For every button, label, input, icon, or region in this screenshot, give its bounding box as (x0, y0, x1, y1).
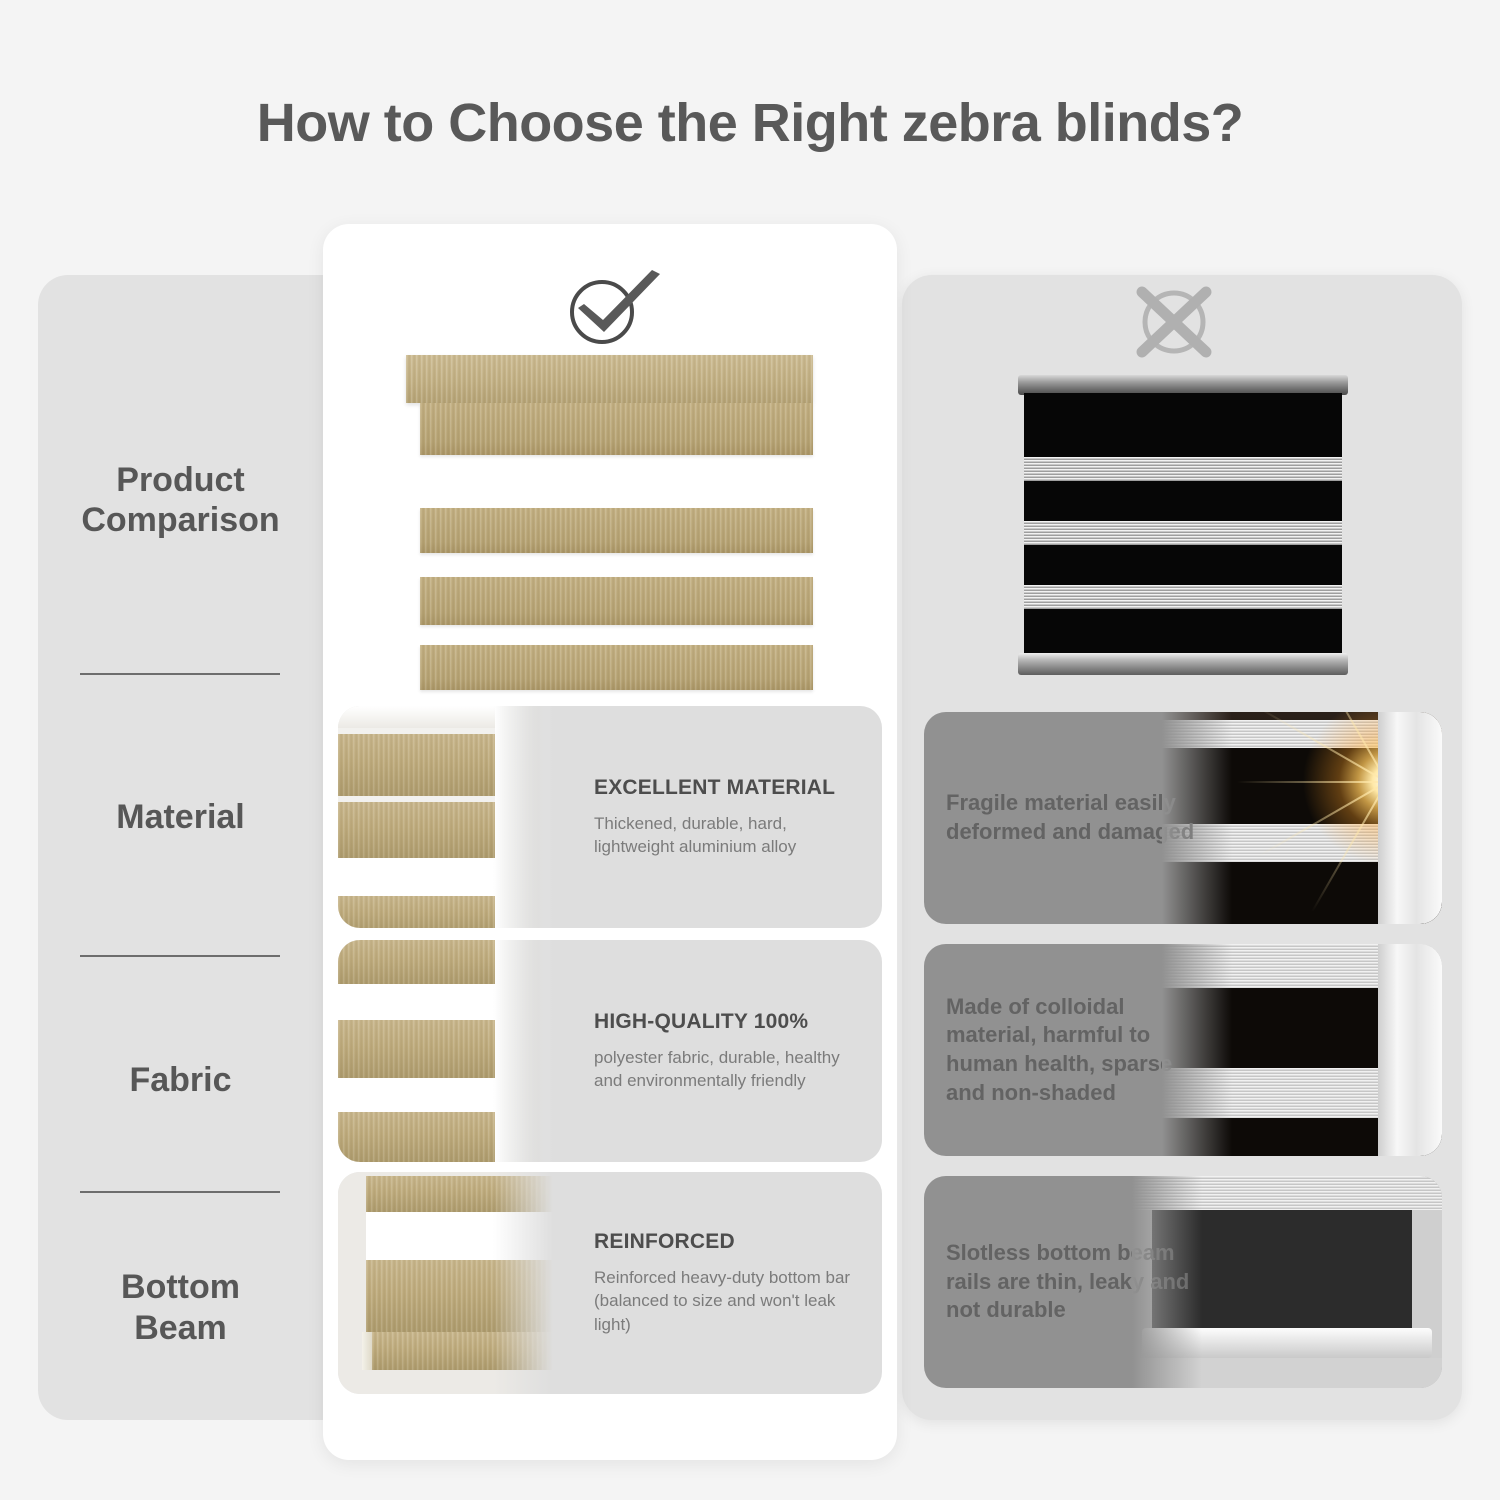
good-feature-card-fabric: HIGH-QUALITY 100% polyester fabric, dura… (338, 940, 882, 1162)
bad-hero-sheer-band (1024, 457, 1342, 481)
sidebar-label-product-comparison: Product Comparison (81, 460, 279, 540)
sidebar-label-fabric: Fabric (129, 1060, 231, 1100)
sidebar-label-column: Product Comparison Material Fabric Botto… (38, 275, 323, 1420)
photo-sheer-band (1132, 1176, 1442, 1210)
bad-feature-card-material: Fragile material easily deformed and dam… (924, 712, 1442, 924)
good-hero-headrail (406, 355, 813, 403)
photo-bottom-rail (1142, 1328, 1432, 1358)
photo-frame-outer (495, 940, 553, 1162)
photo-sheer (338, 984, 523, 1020)
photo-sheer (338, 1078, 523, 1112)
sidebar-divider-3 (80, 1191, 280, 1193)
photo-slat (338, 896, 523, 928)
page-title: How to Choose the Right zebra blinds? (0, 92, 1500, 154)
sidebar-row-product-comparison: Product Comparison (38, 335, 323, 665)
photo-sheer (366, 1212, 553, 1260)
good-hero-image (406, 355, 813, 695)
good-hero-slat (420, 645, 813, 690)
good-bottombeam-text: REINFORCED Reinforced heavy-duty bottom … (594, 1172, 864, 1394)
check-circle-icon (560, 268, 670, 348)
photo-slat (366, 1176, 553, 1212)
bad-hero-sheer-band (1024, 521, 1342, 545)
good-material-photo (338, 706, 553, 928)
good-hero-slat (420, 403, 813, 455)
good-feature-card-material: EXCELLENT MATERIAL Thickened, durable, h… (338, 706, 882, 928)
photo-slat (338, 734, 523, 796)
sidebar-row-fabric: Fabric (38, 965, 323, 1195)
photo-window-frame (1378, 712, 1442, 924)
bad-feature-card-bottom-beam: Slotless bottom beam rails are thin, lea… (924, 1176, 1442, 1388)
photo-frame-inner (497, 706, 513, 928)
bad-material-photo (1162, 712, 1442, 924)
good-bottombeam-heading: REINFORCED (594, 1230, 864, 1254)
photo-slat (338, 1020, 523, 1078)
bad-feature-card-fabric: Made of colloidal material, harmful to h… (924, 944, 1442, 1156)
sidebar-label-bottom-beam: Bottom Beam (121, 1267, 240, 1347)
bad-hero-fabric (1024, 393, 1342, 655)
cross-circle-icon (1128, 286, 1220, 358)
bad-fabric-photo (1162, 944, 1442, 1156)
photo-black-band (1152, 1210, 1412, 1328)
bad-hero-sheer-band (1024, 585, 1342, 609)
sidebar-divider-2 (80, 955, 280, 957)
photo-slat (338, 802, 523, 858)
good-fabric-photo (338, 940, 553, 1162)
photo-window-top (338, 706, 528, 728)
good-hero-slat (420, 577, 813, 625)
bad-hero-image (1018, 375, 1348, 675)
good-material-body: Thickened, durable, hard, lightweight al… (594, 812, 864, 859)
good-hero-slat (420, 508, 813, 553)
photo-window-frame (1378, 944, 1442, 1156)
photo-sheer (338, 858, 523, 896)
photo-endcap (362, 1332, 372, 1370)
photo-background (338, 706, 553, 928)
good-bottombeam-body: Reinforced heavy-duty bottom bar (balanc… (594, 1266, 864, 1336)
photo-slat (338, 940, 523, 984)
good-fabric-text: HIGH-QUALITY 100% polyester fabric, dura… (594, 940, 864, 1162)
sidebar-row-bottom-beam: Bottom Beam (38, 1200, 323, 1415)
bad-bottombeam-photo (1132, 1176, 1442, 1388)
bad-hero-bottomrail (1018, 653, 1348, 675)
good-material-heading: EXCELLENT MATERIAL (594, 776, 864, 800)
good-material-text: EXCELLENT MATERIAL Thickened, durable, h… (594, 706, 864, 928)
bad-hero-headrail (1018, 375, 1348, 395)
sidebar-row-material: Material (38, 675, 323, 960)
photo-background (338, 940, 553, 1162)
photo-slat (366, 1260, 553, 1332)
good-fabric-body: polyester fabric, durable, healthy and e… (594, 1046, 864, 1093)
photo-sill (1132, 1358, 1442, 1388)
photo-bottombar (372, 1332, 553, 1370)
photo-frame-inner (497, 940, 513, 1162)
sidebar-label-material: Material (116, 797, 245, 837)
good-feature-card-bottom-beam: REINFORCED Reinforced heavy-duty bottom … (338, 1172, 882, 1394)
good-fabric-heading: HIGH-QUALITY 100% (594, 1010, 864, 1034)
photo-slat (338, 1112, 523, 1162)
good-bottombeam-photo (338, 1172, 553, 1394)
photo-frame-outer (495, 706, 553, 928)
photo-background (338, 1172, 553, 1394)
